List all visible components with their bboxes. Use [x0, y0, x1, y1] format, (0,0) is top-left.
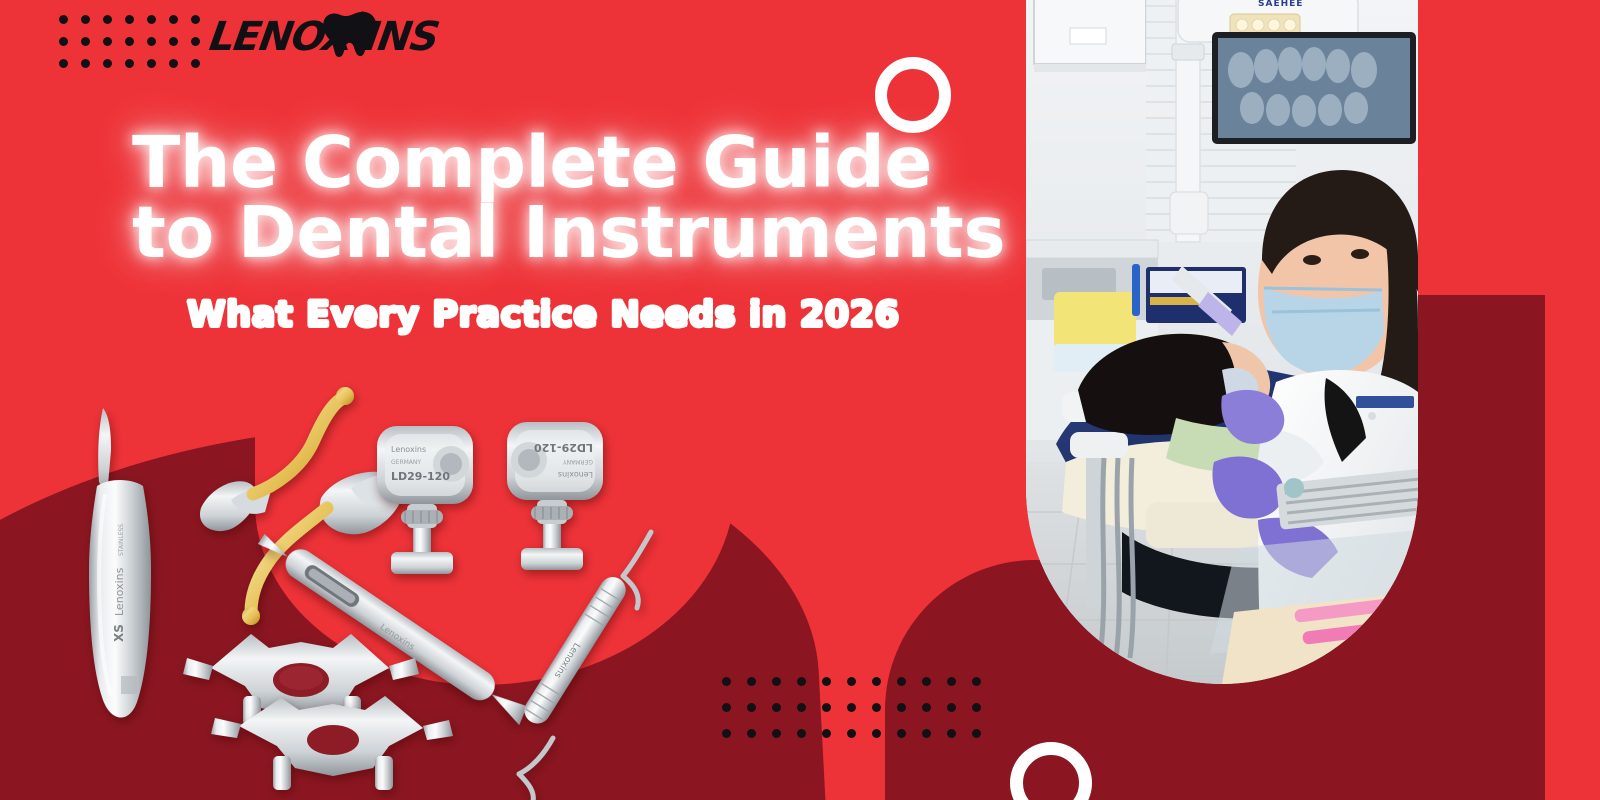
decorative-dot [872, 677, 881, 686]
decorative-dot [822, 703, 831, 712]
svg-text:SAEHEE: SAEHEE [1258, 0, 1303, 9]
decorative-dot [125, 37, 134, 46]
decorative-dot [872, 729, 881, 738]
decorative-dot [947, 677, 956, 686]
decorative-dot [772, 677, 781, 686]
decorative-dot [797, 703, 806, 712]
decorative-dot [103, 37, 112, 46]
photo-content: SAEHEE [1026, 0, 1418, 684]
decorative-dot [972, 703, 981, 712]
decorative-dot [797, 729, 806, 738]
svg-text:Lenoxins: Lenoxins [113, 567, 126, 616]
xray-monitor [1212, 32, 1416, 144]
svg-text:Lenoxins: Lenoxins [558, 470, 593, 479]
dental-explorer-probe: Lenoxins [519, 532, 651, 800]
coat-badge [1356, 396, 1414, 408]
decorative-dot [191, 15, 200, 24]
decorative-dot [169, 59, 178, 68]
decorative-dot [81, 37, 90, 46]
decorative-dot [147, 37, 156, 46]
decorative-dot [897, 677, 906, 686]
dental-elevator-instrument: XS Lenoxins STAINLESS [89, 408, 151, 718]
decorative-dot [822, 729, 831, 738]
decorative-dot [169, 15, 178, 24]
brand-logo[interactable]: LENOX INS [207, 6, 457, 62]
decorative-dot [103, 15, 112, 24]
svg-text:GERMANY: GERMANY [563, 458, 593, 465]
decorative-dot [897, 729, 906, 738]
hero-photo: SAEHEE [1026, 0, 1418, 684]
decorative-dot [103, 59, 112, 68]
dot-grid-bottom-center [714, 668, 989, 746]
decorative-dot [191, 37, 200, 46]
handpiece-code-left: LD29-120 [391, 470, 450, 483]
decorative-dot [897, 703, 906, 712]
decorative-dot [772, 703, 781, 712]
decorative-dot [125, 15, 134, 24]
decorative-dot [847, 703, 856, 712]
decorative-dot [847, 677, 856, 686]
decorative-dot [125, 59, 134, 68]
decorative-dot [972, 729, 981, 738]
decorative-dot [772, 729, 781, 738]
svg-text:STAINLESS: STAINLESS [118, 524, 125, 556]
svg-text:GERMANY: GERMANY [391, 459, 421, 466]
decorative-dot [59, 15, 68, 24]
decorative-dot [81, 15, 90, 24]
decorative-dot [147, 15, 156, 24]
dental-instruments-cluster: XS Lenoxins STAINLESS [55, 390, 755, 800]
svg-text:Lenoxins: Lenoxins [391, 445, 426, 454]
decorative-dot [169, 37, 178, 46]
handpiece-head-left: Lenoxins GERMANY LD29-120 [377, 426, 473, 574]
decorative-dot [972, 677, 981, 686]
decorative-dot [922, 729, 931, 738]
supply-bin [1054, 292, 1136, 348]
decorative-dot [947, 703, 956, 712]
decorative-dot [872, 703, 881, 712]
svg-text:XS: XS [112, 624, 126, 642]
handpiece-head-right: Lenoxins GERMANY LD29-120 [507, 422, 603, 570]
decorative-dot [947, 729, 956, 738]
page-subtitle: What Every Practice Needs in 2026 [187, 295, 1012, 335]
decorative-dot [922, 677, 931, 686]
headline-block: The Complete Guide to Dental Instruments… [132, 128, 1012, 335]
blue-pen [1132, 264, 1140, 316]
decorative-dot [191, 59, 200, 68]
page-title: The Complete Guide to Dental Instruments [132, 128, 1012, 267]
dot-grid-top-left [52, 8, 206, 74]
decorative-dot [922, 703, 931, 712]
decorative-dot [81, 59, 90, 68]
decorative-dot [847, 729, 856, 738]
decorative-dot [147, 59, 156, 68]
decorative-dot [59, 37, 68, 46]
marketing-banner: LENOX INS The Complete Guide to Dental I… [0, 0, 1600, 800]
decorative-dot [59, 59, 68, 68]
handpiece-code-right: LD29-120 [534, 441, 593, 454]
decorative-dot [822, 677, 831, 686]
decorative-dot [797, 677, 806, 686]
